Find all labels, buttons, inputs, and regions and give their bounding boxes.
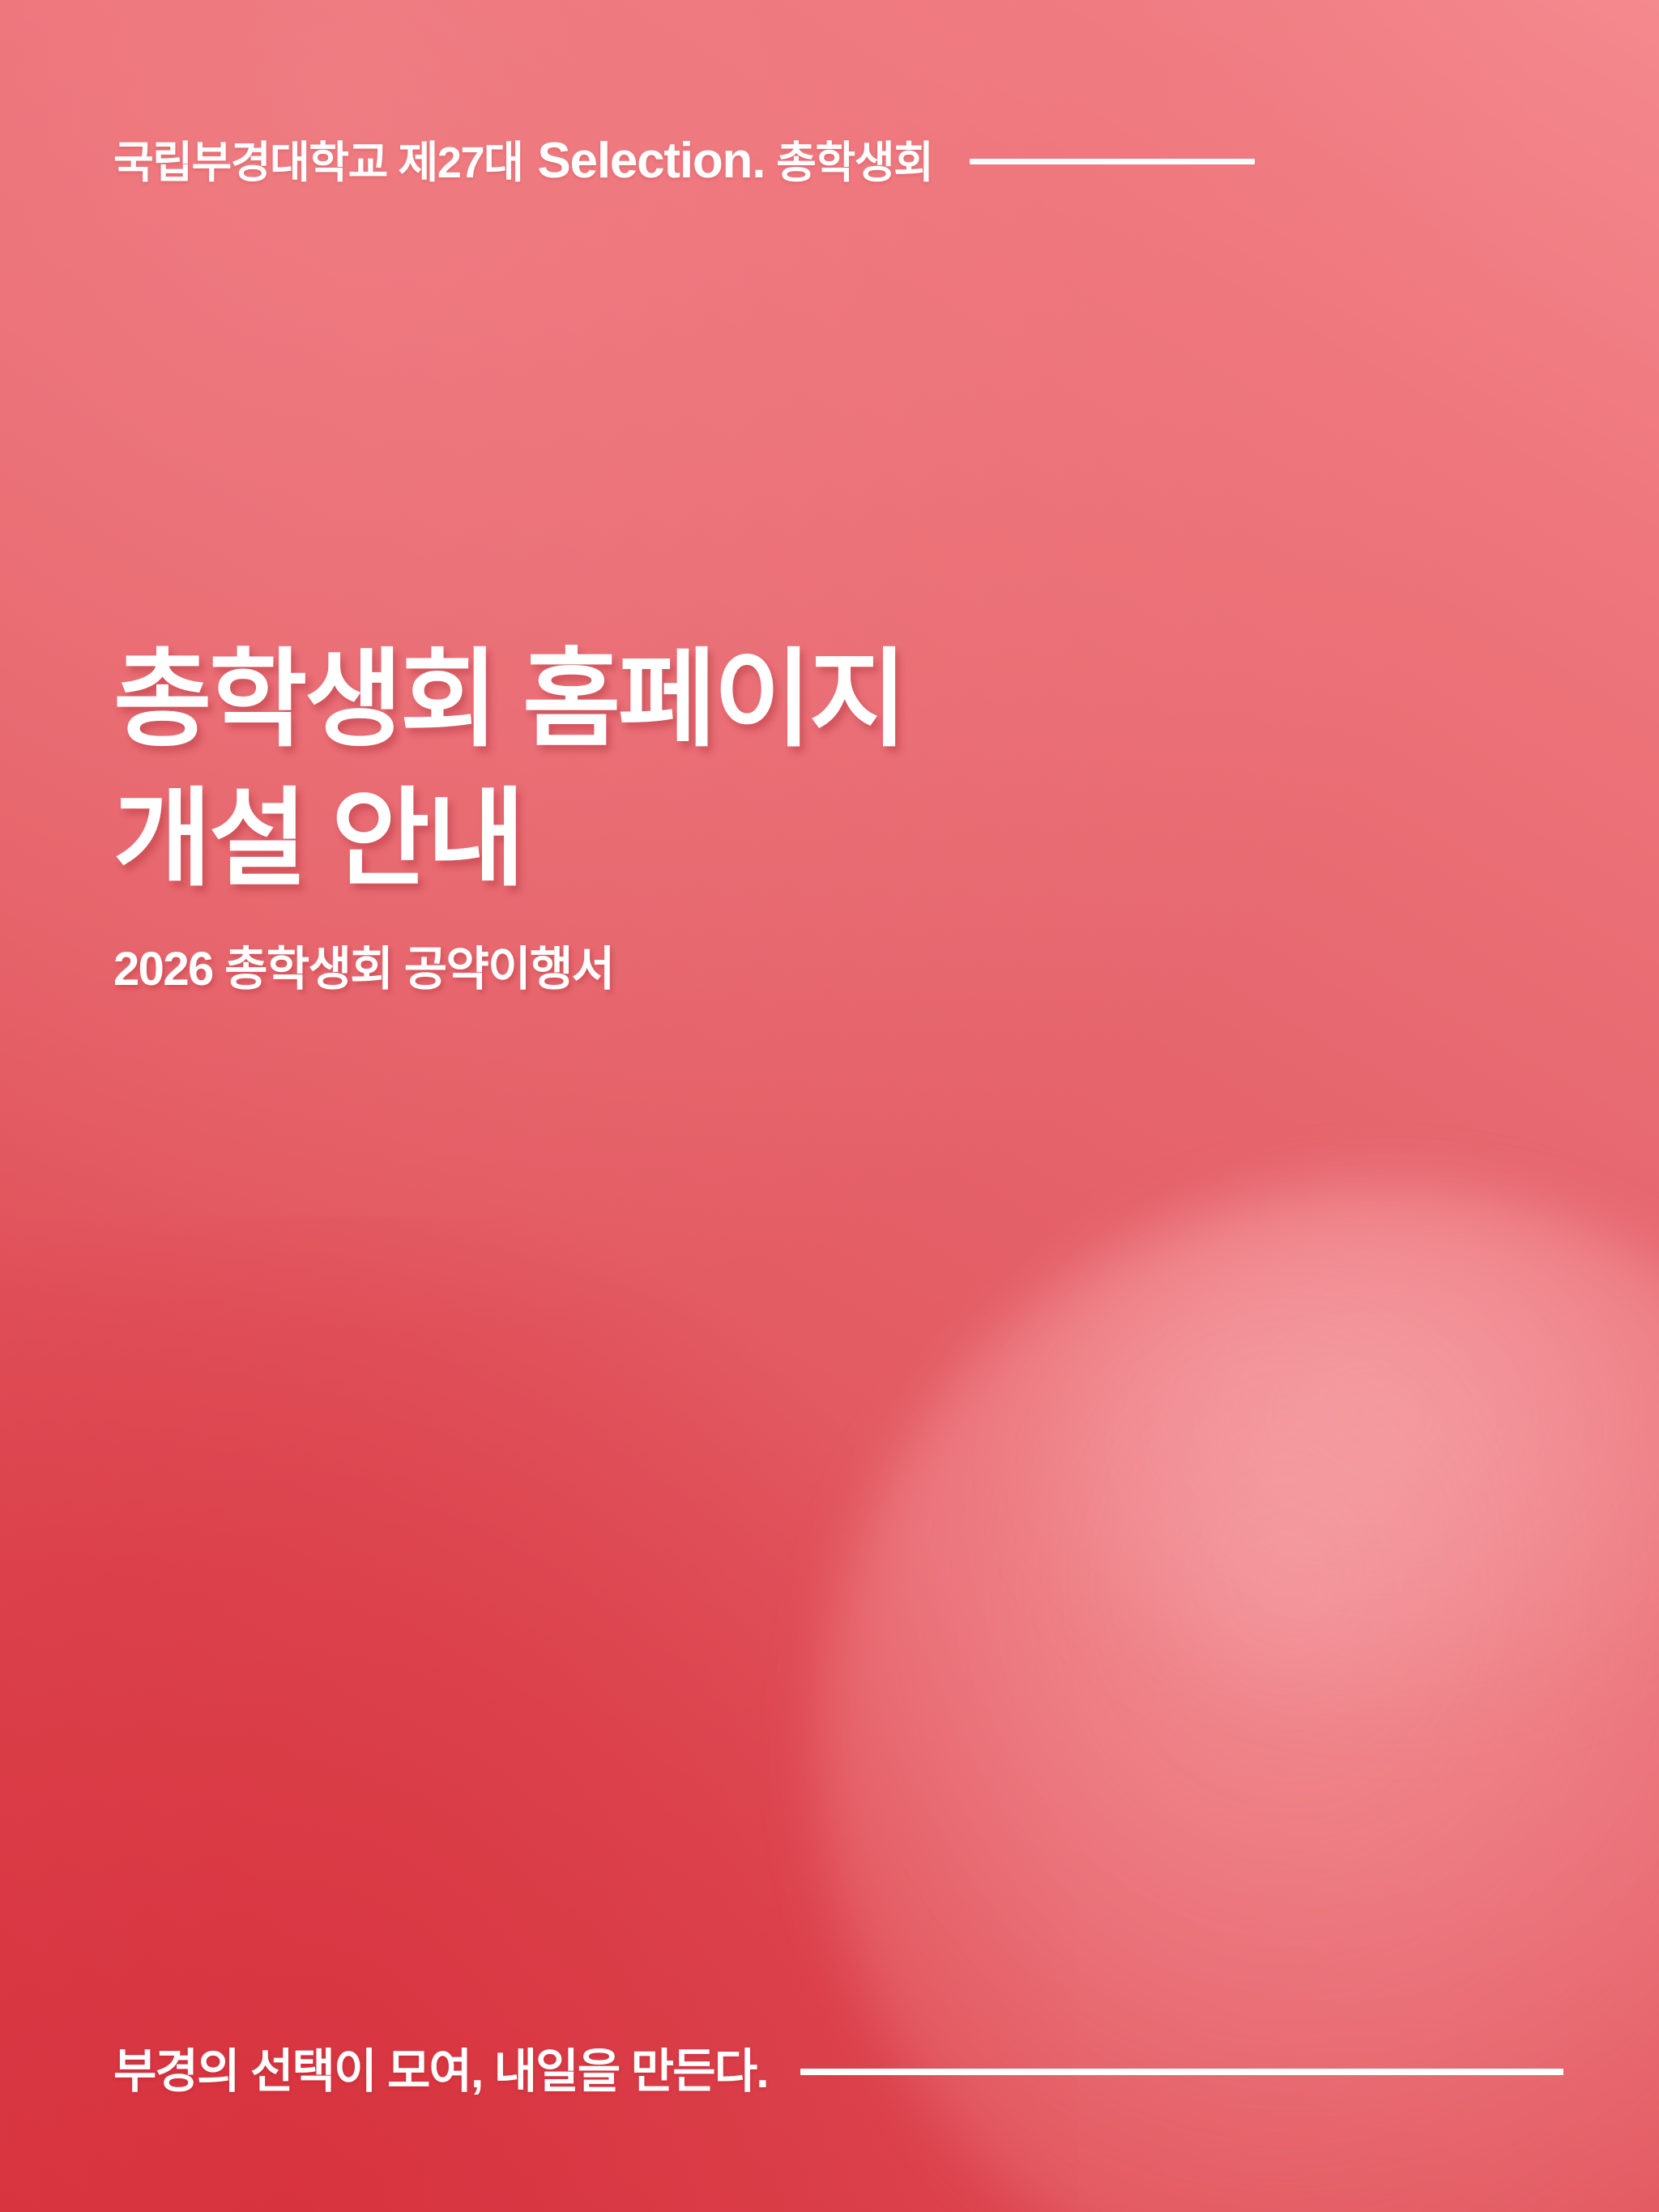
header-row: 국립부경대학교 제27대 Selection. 총학생회 <box>113 136 1546 186</box>
footer-row: 부경의 선택이 모여, 내일을 만든다. <box>113 2048 1563 2095</box>
background-ellipse-highlight <box>1045 1215 1659 1717</box>
footer-divider-rule <box>800 2069 1563 2075</box>
organization-suffix: 총학생회 <box>776 141 932 185</box>
page-subtitle: 2026 총학생회 공약이행서 <box>113 946 614 993</box>
page-title-line-2: 개설 안내 <box>113 769 905 909</box>
organization-title: 국립부경대학교 제27대 Selection. 총학생회 <box>113 136 932 186</box>
poster-canvas: 국립부경대학교 제27대 Selection. 총학생회 총학생회 홈페이지 개… <box>0 0 1659 2212</box>
page-title-line-1: 총학생회 홈페이지 <box>113 630 905 769</box>
header-divider-rule <box>970 159 1255 164</box>
page-title: 총학생회 홈페이지 개설 안내 <box>113 630 905 908</box>
brand-wordmark: Selection. <box>537 136 765 186</box>
organization-prefix: 국립부경대학교 제27대 <box>113 141 522 185</box>
slogan-text: 부경의 선택이 모여, 내일을 만든다. <box>113 2048 768 2095</box>
